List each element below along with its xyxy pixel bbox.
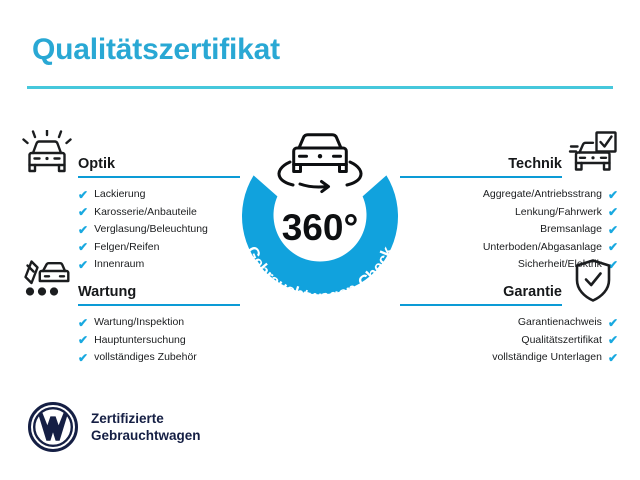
section-header-garantie: Garantie	[400, 258, 618, 306]
check-icon: ✔	[608, 189, 618, 201]
list-item-label: Unterboden/Abgasanlage	[483, 239, 602, 257]
list-item: ✔ Felgen/Reifen	[22, 239, 240, 257]
section-underline-optik	[78, 176, 240, 178]
qualitaetszertifikat-page: Qualitätszertifikat	[0, 0, 640, 480]
section-underline-garantie	[400, 304, 562, 306]
check-icon: ✔	[608, 334, 618, 346]
list-item: ✔ Wartung/Inspektion	[22, 314, 240, 332]
list-item-label: vollständige Unterlagen	[492, 349, 602, 367]
list-item: ✔ Karosserie/Anbauteile	[22, 204, 240, 222]
list-item-label: Karosserie/Anbauteile	[94, 204, 197, 222]
list-item: ✔ Bremsanlage	[400, 221, 618, 239]
list-item-label: Wartung/Inspektion	[94, 314, 184, 332]
vw-footer-line2: Gebrauchtwagen	[91, 427, 201, 444]
list-item-label: Aggregate/Antriebsstrang	[483, 186, 602, 204]
section-header-optik: Optik	[22, 130, 240, 178]
check-icon: ✔	[608, 224, 618, 236]
volkswagen-logo	[28, 402, 78, 452]
list-item-label: Qualitätszertifikat	[521, 332, 602, 350]
section-title-technik: Technik	[400, 156, 562, 176]
list-item: ✔ vollständiges Zubehör	[22, 349, 240, 367]
section-title-wrap-garantie: Garantie	[400, 284, 562, 306]
check-icon: ✔	[78, 189, 88, 201]
list-item: ✔ Verglasung/Beleuchtung	[22, 221, 240, 239]
list-item-label: Bremsanlage	[540, 221, 602, 239]
section-header-technik: Technik	[400, 130, 618, 178]
section-garantie: Garantie ✔ Garantienachweis ✔ Qualitätsz…	[400, 258, 618, 367]
check-icon: ✔	[78, 206, 88, 218]
section-wartung: Wartung ✔ Wartung/Inspektion ✔ Hauptunte…	[22, 258, 240, 367]
section-technik: Technik ✔ Aggregate/Antriebsstrang ✔ Len…	[400, 130, 618, 274]
section-title-garantie: Garantie	[400, 284, 562, 304]
list-item-label: Felgen/Reifen	[94, 239, 159, 257]
title-divider	[27, 86, 613, 89]
check-icon: ✔	[78, 241, 88, 253]
check-icon: ✔	[78, 334, 88, 346]
list-item: ✔ Hauptuntersuchung	[22, 332, 240, 350]
list-item-label: Lenkung/Fahrwerk	[515, 204, 602, 222]
vw-footer: Zertifizierte Gebrauchtwagen	[28, 402, 201, 452]
page-title: Qualitätszertifikat	[32, 33, 280, 67]
list-item-label: Verglasung/Beleuchtung	[94, 221, 208, 239]
check-icon: ✔	[78, 317, 88, 329]
section-header-wartung: Wartung	[22, 258, 240, 306]
list-item-label: Hauptuntersuchung	[94, 332, 186, 350]
badge-360-gebrauchtwagen-check: 360° Gebrauchtwagen-Check	[222, 112, 418, 312]
section-underline-technik	[400, 176, 562, 178]
shield-check-icon	[568, 258, 618, 304]
list-item: ✔ Aggregate/Antriebsstrang	[400, 186, 618, 204]
section-title-wrap-technik: Technik	[400, 156, 562, 178]
section-optik: Optik ✔ Lackierung ✔ Karosserie/Anbautei…	[22, 130, 240, 274]
list-item-label: Lackierung	[94, 186, 145, 204]
check-icon: ✔	[608, 317, 618, 329]
section-title-optik: Optik	[78, 156, 240, 176]
check-icon: ✔	[78, 224, 88, 236]
check-icon: ✔	[608, 206, 618, 218]
car-shine-icon	[22, 130, 72, 176]
list-item: ✔ Unterboden/Abgasanlage	[400, 239, 618, 257]
check-list-garantie: ✔ Garantienachweis ✔ Qualitätszertifikat…	[400, 314, 618, 367]
list-item: ✔ Qualitätszertifikat	[400, 332, 618, 350]
check-icon: ✔	[608, 241, 618, 253]
list-item: ✔ vollständige Unterlagen	[400, 349, 618, 367]
service-pen-car-icon	[22, 258, 72, 304]
badge-value: 360°	[282, 207, 359, 248]
list-item: ✔ Garantienachweis	[400, 314, 618, 332]
check-icon: ✔	[608, 352, 618, 364]
section-title-wartung: Wartung	[78, 284, 240, 304]
list-item-label: vollständiges Zubehör	[94, 349, 197, 367]
vw-footer-line1: Zertifizierte	[91, 410, 201, 427]
list-item-label: Garantienachweis	[518, 314, 602, 332]
section-title-wrap-optik: Optik	[78, 156, 240, 178]
list-item: ✔ Lenkung/Fahrwerk	[400, 204, 618, 222]
check-list-wartung: ✔ Wartung/Inspektion ✔ Hauptuntersuchung…	[22, 314, 240, 367]
vw-footer-text: Zertifizierte Gebrauchtwagen	[91, 410, 201, 444]
check-icon: ✔	[78, 352, 88, 364]
section-title-wrap-wartung: Wartung	[78, 284, 240, 306]
car-rotation-icon	[279, 135, 361, 192]
car-checkbox-icon	[568, 130, 618, 176]
section-underline-wartung	[78, 304, 240, 306]
list-item: ✔ Lackierung	[22, 186, 240, 204]
